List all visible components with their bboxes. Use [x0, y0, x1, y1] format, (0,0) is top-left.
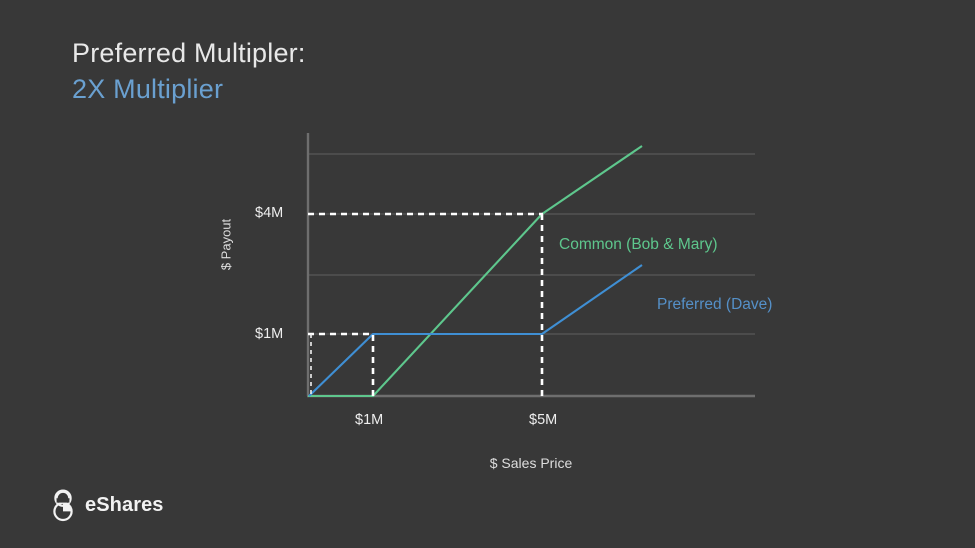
- chart-axes: [307, 133, 755, 396]
- legend-label-preferred: Preferred (Dave): [657, 296, 772, 314]
- y-axis-tick-1m: $1M: [255, 326, 283, 342]
- brand-logo: eShares: [48, 488, 164, 522]
- series-line-common: [308, 146, 642, 396]
- x-axis-tick-1m: $1M: [355, 412, 383, 428]
- x-axis-title: $ Sales Price: [307, 455, 755, 471]
- chart-guide-lines: [308, 214, 543, 396]
- legend-label-common: Common (Bob & Mary): [559, 236, 717, 254]
- y-axis-tick-4m: $4M: [255, 205, 283, 221]
- x-axis-tick-5m: $5M: [529, 412, 557, 428]
- y-axis-title: $ Payout: [219, 205, 234, 285]
- eshares-logo-icon: [48, 488, 78, 522]
- payout-chart: $4M $1M $1M $5M $ Payout $ Sales Price C…: [0, 0, 975, 548]
- brand-name: eShares: [85, 494, 164, 517]
- slide-canvas: Preferred Multipler: 2X Multiplier: [0, 0, 975, 548]
